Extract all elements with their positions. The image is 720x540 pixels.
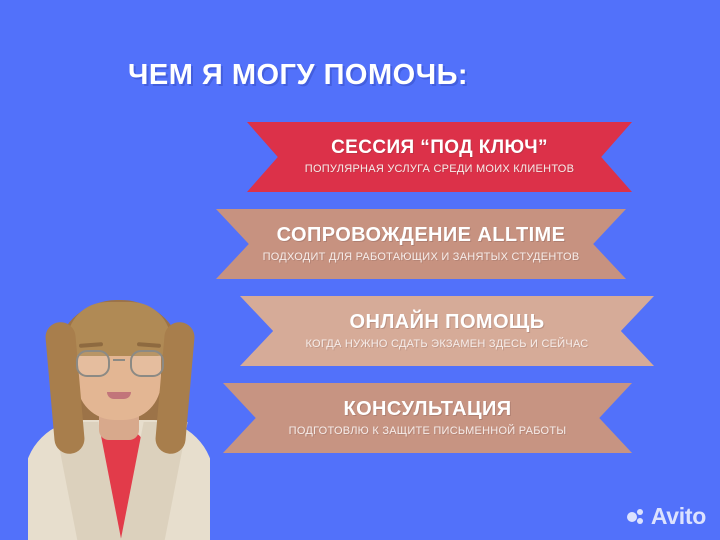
person-photo — [28, 288, 210, 540]
glasses-lens-left — [76, 350, 110, 377]
banner-headline: КОНСУЛЬТАЦИЯ — [343, 399, 511, 420]
avito-wordmark: Avito — [651, 505, 706, 528]
banner-headline: СОПРОВОЖДЕНИЕ ALLTIME — [277, 225, 566, 246]
service-banner-consultation: КОНСУЛЬТАЦИЯ ПОДГОТОВЛЮ К ЗАЩИТЕ ПИСЬМЕН… — [223, 383, 632, 453]
mouth — [107, 392, 131, 399]
banner-headline: ОНЛАЙН ПОМОЩЬ — [350, 312, 545, 333]
service-banner-session: СЕССИЯ “ПОД КЛЮЧ” ПОПУЛЯРНАЯ УСЛУГА СРЕД… — [247, 122, 632, 192]
banner-subtitle: ПОДГОТОВЛЮ К ЗАЩИТЕ ПИСЬМЕННОЙ РАБОТЫ — [289, 425, 567, 437]
avito-watermark: Avito — [627, 505, 706, 528]
banner-subtitle: ПОПУЛЯРНАЯ УСЛУГА СРЕДИ МОИХ КЛИЕНТОВ — [305, 163, 574, 175]
service-banner-alltime: СОПРОВОЖДЕНИЕ ALLTIME ПОДХОДИТ ДЛЯ РАБОТ… — [216, 209, 626, 279]
banner-headline: СЕССИЯ “ПОД КЛЮЧ” — [331, 138, 548, 158]
page-title: ЧЕМ Я МОГУ ПОМОЧЬ: — [128, 58, 468, 93]
hair-top — [67, 302, 171, 356]
banner-subtitle: ПОДХОДИТ ДЛЯ РАБОТАЮЩИХ И ЗАНЯТЫХ СТУДЕН… — [263, 251, 580, 263]
glasses-lens-right — [130, 350, 164, 377]
avito-dots-icon — [627, 509, 646, 525]
service-banner-online-help: ОНЛАЙН ПОМОЩЬ КОГДА НУЖНО СДАТЬ ЭКЗАМЕН … — [240, 296, 654, 366]
banner-subtitle: КОГДА НУЖНО СДАТЬ ЭКЗАМЕН ЗДЕСЬ И СЕЙЧАС — [305, 338, 588, 350]
promo-poster: ЧЕМ Я МОГУ ПОМОЧЬ: СЕССИЯ “ПОД КЛЮЧ” ПОП… — [0, 0, 720, 540]
glasses-bridge — [113, 359, 125, 361]
